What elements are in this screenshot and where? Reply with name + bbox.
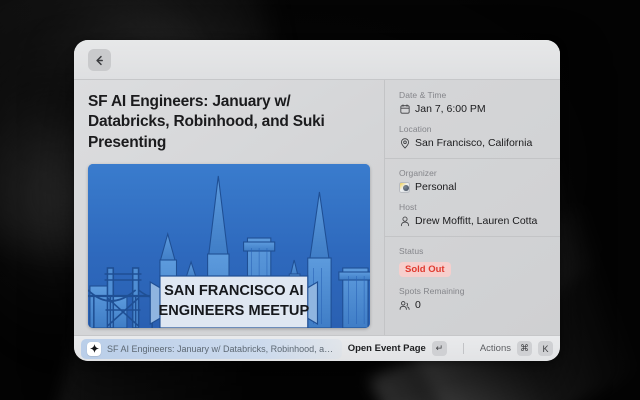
field-value: Personal — [415, 181, 456, 193]
svg-text:ENGINEERS MEETUP: ENGINEERS MEETUP — [159, 303, 310, 319]
enter-key-hint[interactable]: ↵ — [432, 341, 447, 356]
person-icon — [399, 216, 410, 227]
field-label: Organizer — [399, 168, 546, 178]
event-details-sidebar: Date & Time Jan 7, 6:00 PM — [384, 80, 560, 335]
skyline-illustration: SAN FRANCISCO AI ENGINEERS MEETUP — [88, 164, 370, 328]
field-spots-remaining: Spots Remaining 0 — [399, 286, 546, 311]
selected-item-chip[interactable]: SF AI Engineers: January w/ Databricks, … — [81, 339, 342, 359]
details-group-schedule: Date & Time Jan 7, 6:00 PM — [385, 90, 560, 149]
field-value: San Francisco, California — [415, 137, 532, 149]
field-value-row: Drew Moffitt, Lauren Cotta — [399, 215, 546, 227]
field-value-row: Personal — [399, 181, 546, 193]
field-value-row: San Francisco, California — [399, 137, 546, 149]
event-main-column: SF AI Engineers: January w/ Databricks, … — [74, 80, 384, 335]
svg-text:SAN FRANCISCO AI: SAN FRANCISCO AI — [164, 283, 304, 299]
details-group-availability: Status Sold Out Spots Remaining — [385, 246, 560, 311]
calendar-icon — [399, 104, 410, 115]
k-key-hint[interactable]: K — [538, 341, 553, 356]
panel-body: SF AI Engineers: January w/ Databricks, … — [74, 80, 560, 335]
status-badge: Sold Out — [399, 262, 451, 277]
actions-label[interactable]: Actions — [480, 343, 511, 354]
panel-toolbar — [74, 40, 560, 80]
field-label: Host — [399, 202, 546, 212]
field-value: Jan 7, 6:00 PM — [415, 103, 486, 115]
map-pin-icon — [399, 138, 410, 149]
field-value-row: Jan 7, 6:00 PM — [399, 103, 546, 115]
field-value: 0 — [415, 299, 421, 311]
field-label: Date & Time — [399, 90, 546, 100]
field-label: Status — [399, 246, 546, 256]
sidebar-divider — [385, 236, 560, 237]
people-icon — [399, 300, 410, 311]
selected-item-label: SF AI Engineers: January w/ Databricks, … — [107, 344, 336, 354]
field-host: Host Drew Moffitt, Lauren Cotta — [399, 202, 546, 227]
calendar-app-icon — [399, 182, 410, 193]
field-date-time: Date & Time Jan 7, 6:00 PM — [399, 90, 546, 115]
back-button[interactable] — [88, 49, 111, 71]
sidebar-divider — [385, 158, 560, 159]
field-label: Location — [399, 124, 546, 134]
footer-divider — [463, 343, 464, 354]
field-value-row: 0 — [399, 299, 546, 311]
event-hero-image: SAN FRANCISCO AI ENGINEERS MEETUP — [88, 164, 370, 328]
field-label: Spots Remaining — [399, 286, 546, 296]
field-organizer: Organizer Personal — [399, 168, 546, 193]
field-value: Drew Moffitt, Lauren Cotta — [415, 215, 537, 227]
event-detail-panel: SF AI Engineers: January w/ Databricks, … — [74, 40, 560, 361]
details-group-people: Organizer Personal Host — [385, 168, 560, 227]
panel-footer: SF AI Engineers: January w/ Databricks, … — [74, 335, 560, 361]
field-location: Location San Francisco, California — [399, 124, 546, 149]
field-status: Status Sold Out — [399, 246, 546, 277]
event-title: SF AI Engineers: January w/ Databricks, … — [88, 92, 370, 153]
arrow-left-icon — [94, 55, 105, 66]
sparkle-icon — [87, 342, 101, 356]
command-key-hint[interactable]: ⌘ — [517, 341, 532, 356]
open-event-page-label[interactable]: Open Event Page — [348, 343, 426, 354]
